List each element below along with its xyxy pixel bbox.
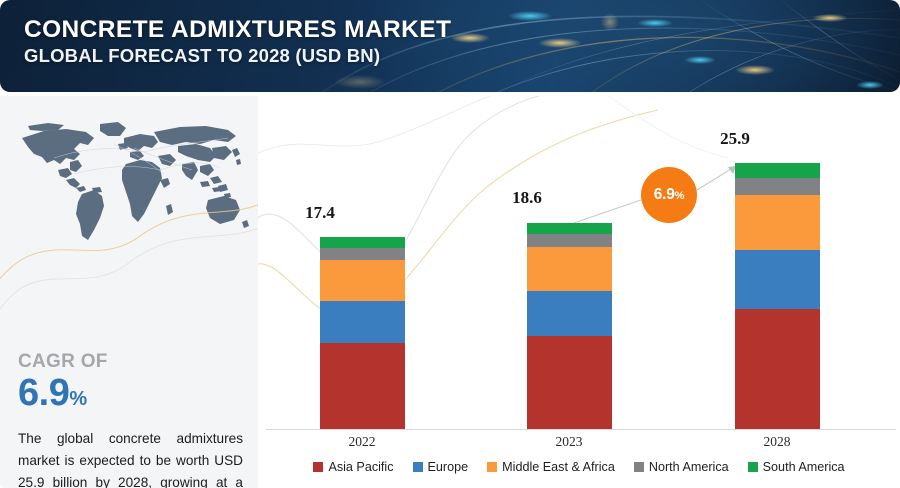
legend-label: North America (649, 460, 729, 474)
x-axis-label-2023: 2023 (509, 434, 629, 450)
legend-label: Middle East & Africa (502, 460, 615, 474)
segment-asia-pacific (527, 336, 612, 429)
chart-legend: Asia Pacific Europe Middle East & Africa… (258, 460, 900, 474)
legend-item-europe[interactable]: Europe (413, 460, 469, 474)
x-axis-line (266, 429, 896, 430)
segment-europe (320, 301, 405, 343)
legend-swatch-icon (313, 462, 323, 472)
header-banner: CONCRETE ADMIXTURES MARKET GLOBAL FORECA… (0, 0, 900, 92)
chart-container: 17.4 2022 18.6 2023 25.9 (258, 96, 900, 488)
legend-item-north-america[interactable]: North America (634, 460, 729, 474)
segment-europe (735, 250, 820, 309)
cagr-percent-sign: % (69, 388, 87, 410)
bar-total-label: 17.4 (260, 203, 380, 223)
cagr-label: CAGR OF (18, 352, 108, 371)
segment-north-america (735, 178, 820, 194)
segment-south-america (735, 163, 820, 178)
bar-stack-2028 (735, 163, 820, 429)
segment-south-america (320, 237, 405, 248)
segment-south-america (527, 223, 612, 234)
bar-total-label: 18.6 (467, 188, 587, 208)
segment-asia-pacific (320, 343, 405, 429)
segment-north-america (527, 234, 612, 247)
legend-label: Asia Pacific (328, 460, 393, 474)
legend-label: Europe (428, 460, 469, 474)
legend-item-asia-pacific[interactable]: Asia Pacific (313, 460, 393, 474)
summary-panel: CAGR OF 6.9% The global concrete admixtu… (0, 96, 258, 488)
page-title: CONCRETE ADMIXTURES MARKET (24, 17, 451, 43)
segment-north-america (320, 248, 405, 260)
segment-middle-east-africa (320, 260, 405, 301)
legend-swatch-icon (487, 462, 497, 472)
bar-stack-2023 (527, 223, 612, 429)
world-map-icon (14, 118, 250, 258)
legend-item-south-america[interactable]: South America (748, 460, 845, 474)
legend-swatch-icon (748, 462, 758, 472)
bar-total-label: 25.9 (675, 129, 795, 149)
segment-asia-pacific (735, 309, 820, 429)
segment-middle-east-africa (527, 247, 612, 290)
legend-label: South America (763, 460, 845, 474)
x-axis-label-2022: 2022 (302, 434, 422, 450)
cagr-badge-unit: % (675, 190, 685, 202)
world-map-svg (14, 118, 250, 258)
cagr-value: 6.9% (18, 374, 108, 412)
legend-swatch-icon (634, 462, 644, 472)
segment-middle-east-africa (735, 195, 820, 250)
cagr-badge: 6.9% (641, 167, 697, 223)
summary-description: The global concrete admixtures market is… (18, 428, 243, 488)
cagr-number: 6.9 (18, 372, 69, 414)
plot-region: 17.4 2022 18.6 2023 25.9 (258, 96, 900, 488)
cagr-badge-value: 6.9 (654, 186, 675, 203)
cagr-badge-text: 6.9% (654, 186, 685, 204)
legend-item-middle-east-africa[interactable]: Middle East & Africa (487, 460, 615, 474)
infographic-root: CONCRETE ADMIXTURES MARKET GLOBAL FORECA… (0, 0, 900, 488)
cagr-block: CAGR OF 6.9% (18, 352, 108, 412)
legend-swatch-icon (413, 462, 423, 472)
header-text-block: CONCRETE ADMIXTURES MARKET GLOBAL FORECA… (24, 17, 451, 67)
segment-europe (527, 291, 612, 336)
bar-stack-2022 (320, 237, 405, 429)
x-axis-label-2028: 2028 (717, 434, 837, 450)
page-subtitle: GLOBAL FORECAST TO 2028 (USD BN) (24, 45, 451, 66)
